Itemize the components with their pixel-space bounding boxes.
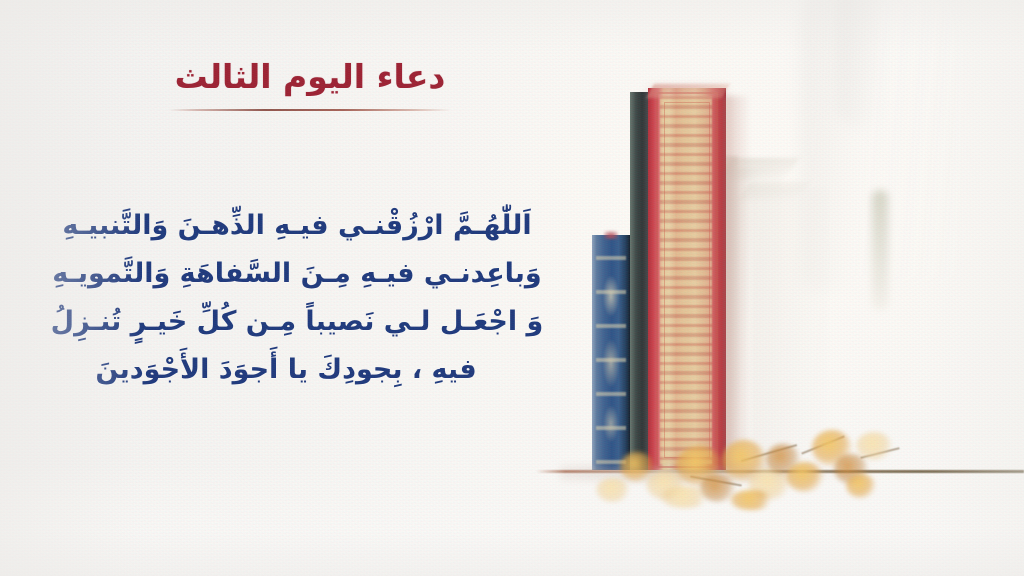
pale-background-book-2 bbox=[752, 188, 828, 470]
blossom bbox=[596, 478, 630, 502]
faint-vase-stem bbox=[872, 190, 888, 310]
blossom bbox=[856, 432, 892, 460]
supplication-text: اَللّٰهُـمَّ ارْزُقْنـي فيـهِ الذِّهـنَ … bbox=[8, 206, 586, 398]
navy-book-gold-bands bbox=[596, 240, 626, 464]
navy-book-top-accent bbox=[604, 231, 618, 239]
page-title: دعاء اليوم الثالث bbox=[60, 56, 560, 97]
blossom bbox=[660, 486, 710, 508]
faint-vase-neck bbox=[836, 0, 882, 126]
title-divider bbox=[169, 109, 451, 111]
poster-canvas: دعاء اليوم الثالث اَللّٰهُـمَّ ارْزُقْنـ… bbox=[0, 0, 1024, 576]
title-block: دعاء اليوم الثالث bbox=[60, 56, 560, 111]
supplication-line-3: وَ اجْعَـل لـي نَصيباً مِـن كُلِّ خَيـرٍ… bbox=[8, 302, 586, 342]
blossom bbox=[730, 490, 774, 510]
red-book-inner-frame bbox=[664, 102, 710, 458]
red-book-top-edge bbox=[646, 84, 729, 98]
blossom bbox=[786, 462, 824, 492]
dark-spine-book bbox=[630, 92, 650, 470]
red-book-right-shadow bbox=[724, 96, 750, 470]
supplication-line-2: وَباعِدنـي فيـهِ مِـنَ السَّفاهَةِ وَالت… bbox=[8, 254, 586, 294]
blossom bbox=[846, 474, 876, 498]
supplication-line-4: فيهِ ، بِجودِكَ يا أَجوَدَ الأَجْوَدينَ bbox=[8, 350, 586, 390]
supplication-line-1: اَللّٰهُـمَّ ارْزُقْنـي فيـهِ الذِّهـنَ … bbox=[8, 206, 586, 246]
